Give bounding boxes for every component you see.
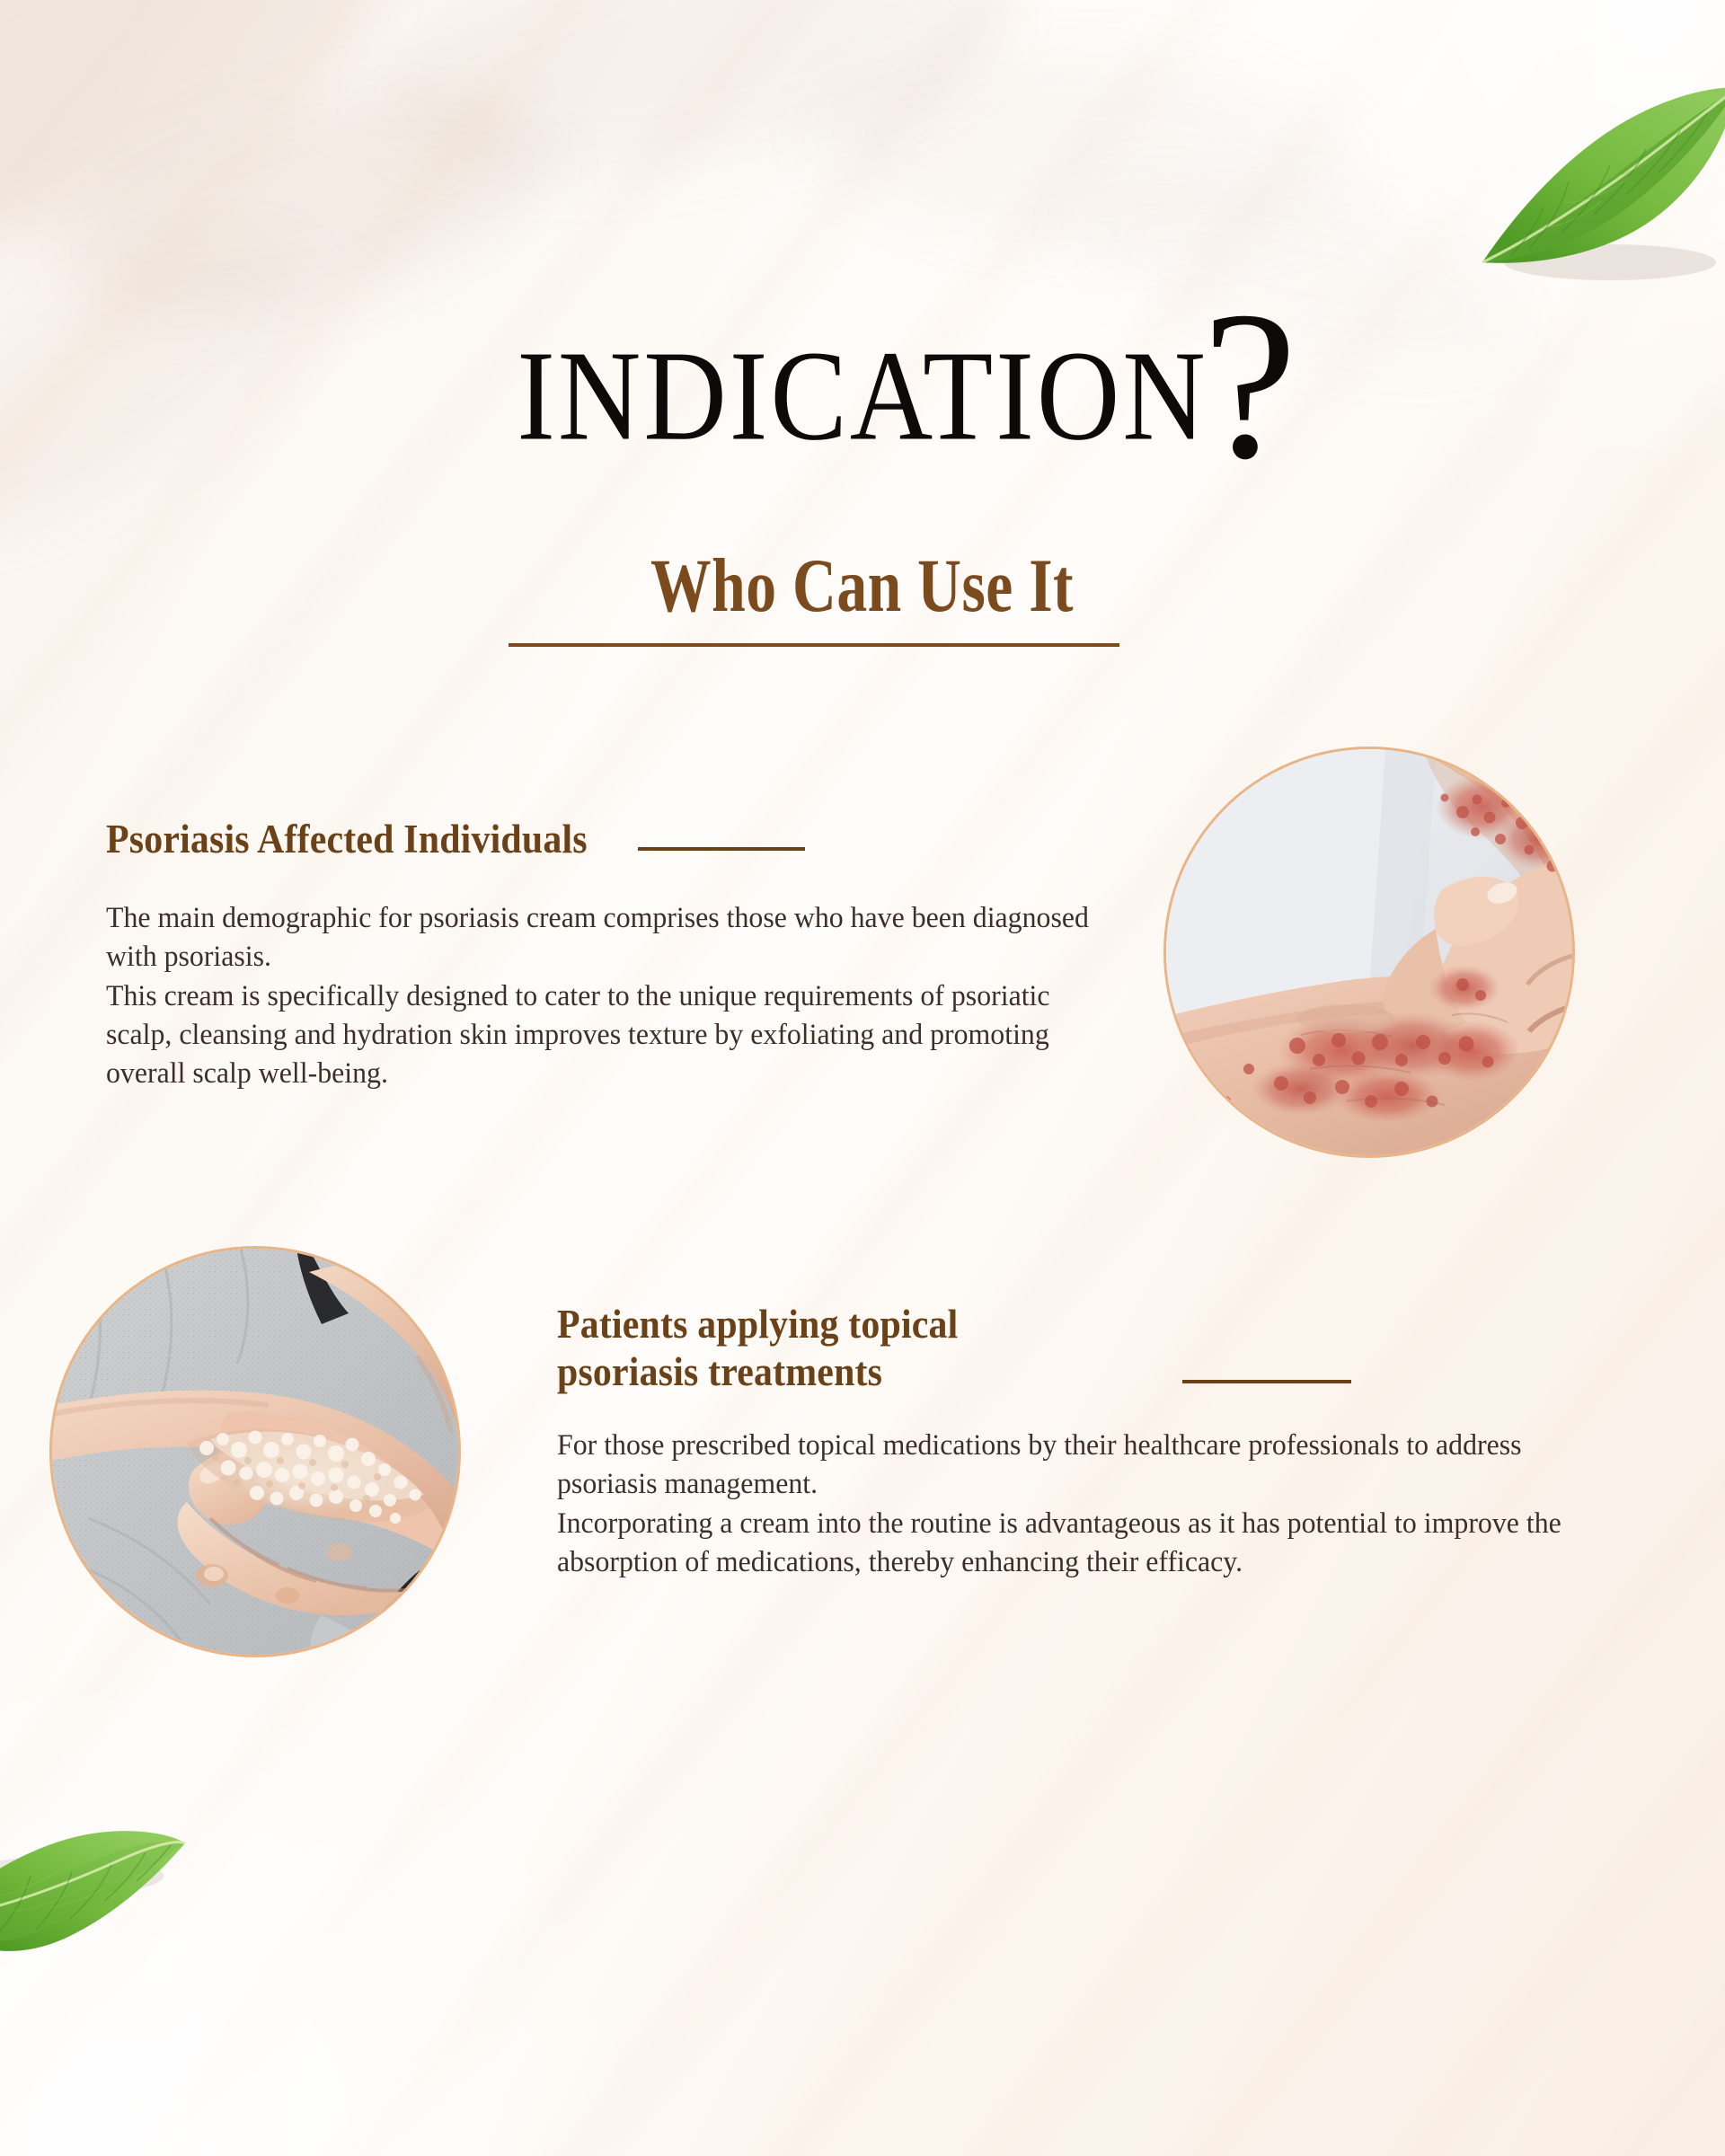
page-subtitle: Who Can Use It	[0, 559, 1725, 623]
psoriasis-hand-photo	[1166, 749, 1572, 1155]
question-mark-glyph: ?	[1203, 280, 1297, 492]
leaf-icon	[0, 1813, 226, 2037]
poster-header: INDICATION ? Who Can Use It	[0, 0, 1725, 683]
section-1-heading-rule	[638, 847, 805, 851]
page-title-text: INDICATION	[517, 331, 1207, 460]
section-1-body: The main demographic for psoriasis cream…	[106, 899, 1103, 1093]
section-2-body: For those prescribed topical medications…	[557, 1427, 1571, 1582]
section-1-heading: Psoriasis Affected Individuals	[106, 816, 588, 863]
page-title: INDICATION ?	[0, 345, 1725, 460]
background-glow-bottom-left	[0, 1653, 665, 2156]
psoriasis-elbow-photo	[52, 1249, 458, 1655]
page-subtitle-text: Who Can Use It	[651, 547, 1075, 623]
indication-poster: INDICATION ? Who Can Use It Psoriasis Af…	[0, 0, 1725, 2156]
section-2-heading-rule	[1182, 1380, 1351, 1383]
section-psoriasis-affected-individuals: Psoriasis Affected Individuals The main …	[106, 816, 1031, 1093]
section-patients-applying-topical-treatments: Patients applying topical psoriasis trea…	[557, 1301, 1455, 1582]
section-2-heading: Patients applying topical psoriasis trea…	[557, 1301, 1109, 1396]
subtitle-underline	[509, 643, 1119, 647]
